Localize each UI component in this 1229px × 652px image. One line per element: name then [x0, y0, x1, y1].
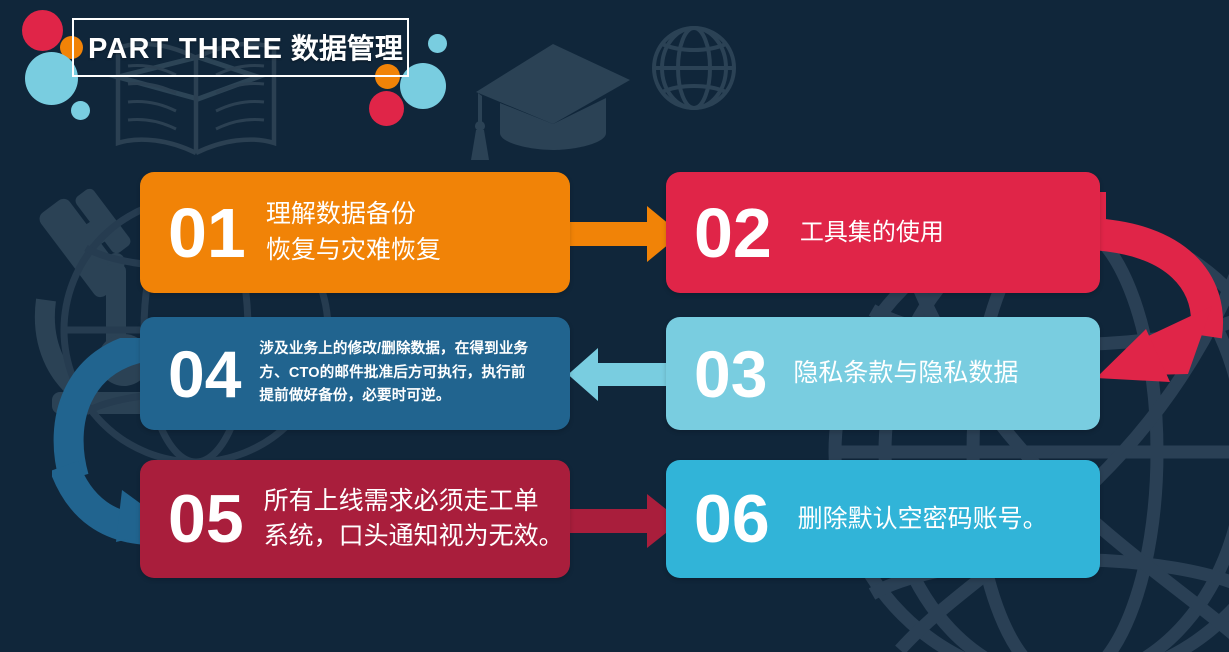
step-number-02: 02	[666, 198, 778, 268]
step-card-03[interactable]: 03 隐私条款与隐私数据	[666, 317, 1100, 430]
step-text-04-line-2: 方、CTO的邮件批准后方可执行，执行前	[259, 362, 528, 385]
step-text-05-line-1: 所有上线需求必须走工单	[264, 484, 564, 520]
step-card-02[interactable]: 02 工具集的使用	[666, 172, 1100, 293]
step-number-01: 01	[140, 198, 252, 268]
deco-circle-crimson-1	[22, 10, 63, 51]
step-text-01-line-2: 恢复与灾难恢复	[266, 233, 441, 269]
step-text-01: 理解数据备份 恢复与灾难恢复	[252, 197, 441, 268]
page-title: PART THREE 数据管理	[88, 27, 403, 67]
step-text-05: 所有上线需求必须走工单 系统，口头通知视为无效。	[250, 484, 564, 555]
step-text-06-line-1: 删除默认空密码账号。	[798, 502, 1048, 537]
page-title-cn	[283, 33, 291, 64]
step-card-06[interactable]: 06 删除默认空密码账号。	[666, 460, 1100, 578]
graduation-cap-watermark	[471, 44, 630, 160]
arrow-05-to-06	[555, 494, 681, 548]
step-text-04-line-3: 提前做好备份，必要时可逆。	[259, 385, 528, 408]
step-card-05[interactable]: 05 所有上线需求必须走工单 系统，口头通知视为无效。	[140, 460, 570, 578]
step-number-05: 05	[140, 485, 250, 553]
page-title-en: PART THREE	[88, 33, 283, 65]
step-number-06: 06	[666, 485, 776, 553]
arrow-02-to-03	[1084, 186, 1229, 396]
step-text-02-line-1: 工具集的使用	[800, 216, 944, 250]
deco-circle-lightblue-3	[428, 34, 447, 53]
step-card-04[interactable]: 04 涉及业务上的修改/删除数据，在得到业务 方、CTO的邮件批准后方可执行，执…	[140, 317, 570, 430]
deco-circle-crimson-2	[369, 91, 404, 126]
step-text-03-line-1: 隐私条款与隐私数据	[793, 356, 1018, 391]
step-number-04: 04	[140, 341, 247, 407]
step-text-02: 工具集的使用	[778, 216, 944, 250]
arrow-03-to-04	[568, 348, 676, 401]
step-text-04: 涉及业务上的修改/删除数据，在得到业务 方、CTO的邮件批准后方可执行，执行前 …	[247, 338, 528, 408]
step-text-04-line-1: 涉及业务上的修改/删除数据，在得到业务	[259, 338, 528, 361]
deco-circle-lightblue-1	[25, 52, 78, 105]
globe-watermark	[654, 28, 734, 108]
step-number-03: 03	[666, 341, 773, 407]
step-text-03: 隐私条款与隐私数据	[773, 356, 1018, 391]
arrow-01-to-02	[555, 206, 681, 262]
step-text-01-line-1: 理解数据备份	[266, 197, 441, 233]
step-card-01[interactable]: 01 理解数据备份 恢复与灾难恢复	[140, 172, 570, 293]
step-text-05-line-2: 系统，口头通知视为无效。	[264, 519, 564, 555]
slide-canvas: PART THREE 数据管理 01 理解数据备份 恢复与灾难恢复 02	[0, 0, 1229, 652]
page-title-cn-text: 数据管理	[291, 33, 403, 64]
step-text-06: 删除默认空密码账号。	[776, 502, 1048, 537]
deco-circle-lightblue-2	[71, 101, 90, 120]
